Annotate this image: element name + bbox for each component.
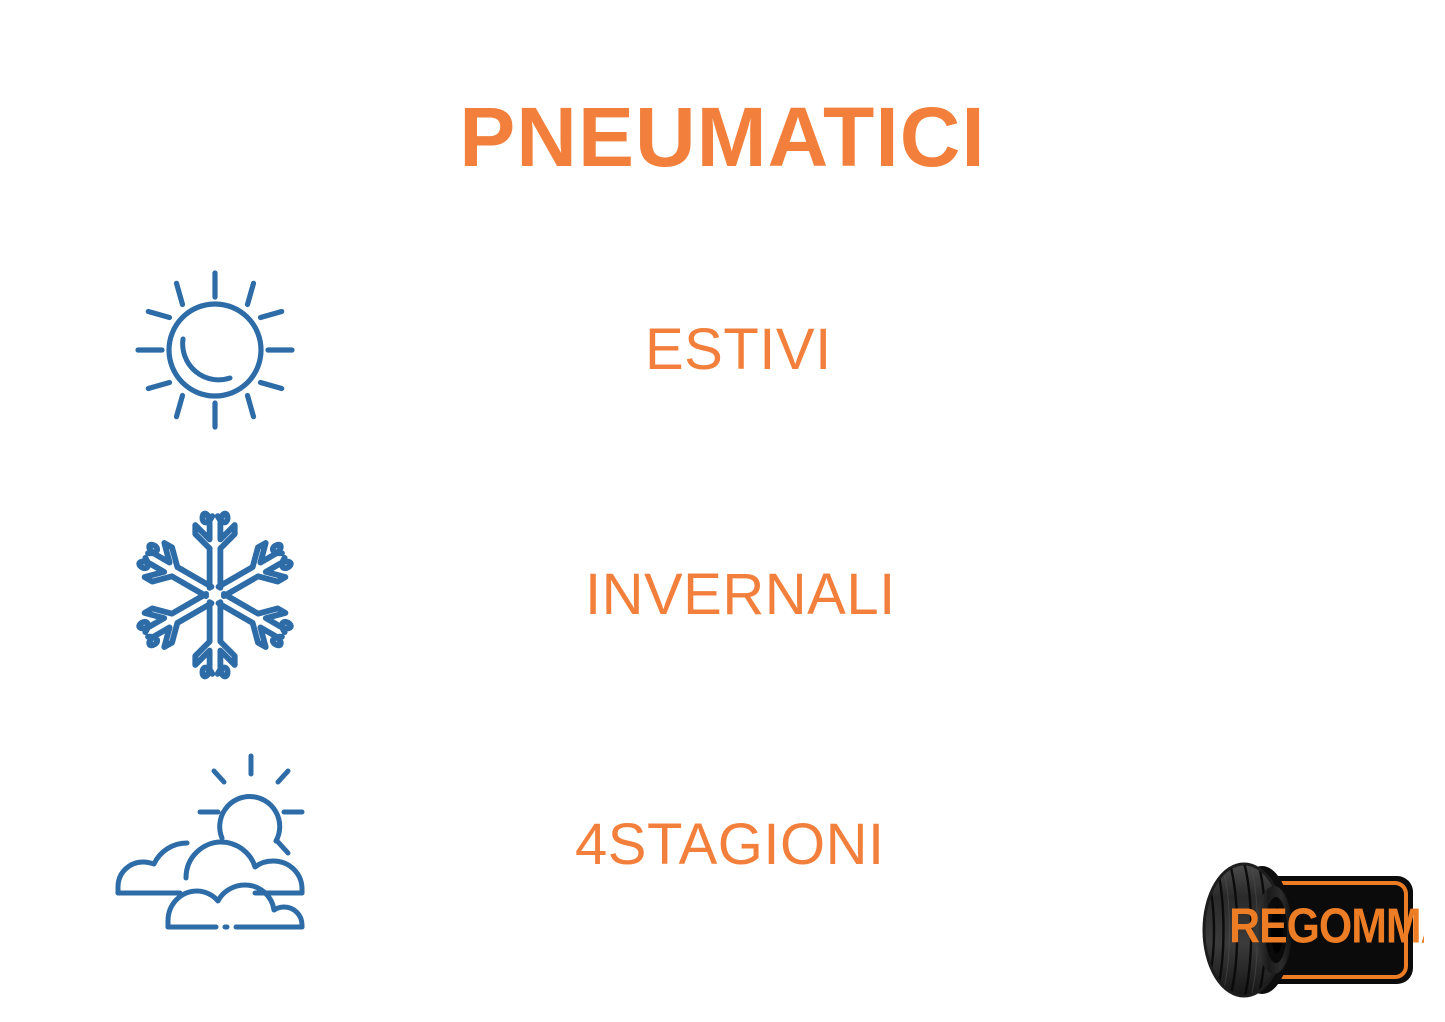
poster-canvas: PNEUMATICI <box>0 0 1445 1022</box>
regomma-logo-graphic: REGOMMA <box>1196 855 1424 1005</box>
category-row-estivi: ESTIVI <box>0 245 1445 455</box>
sun-behind-clouds-icon <box>108 750 323 940</box>
sun-icon <box>120 255 310 445</box>
category-label-estivi: ESTIVI <box>645 321 832 379</box>
category-label-4stagioni: 4STAGIONI <box>575 816 885 874</box>
category-label-invernali: INVERNALI <box>585 566 896 624</box>
estivi-label-cell: ESTIVI <box>430 245 1445 455</box>
logo-brand-text: REGOMMA <box>1229 897 1424 953</box>
regomma-logo: REGOMMA <box>1196 855 1424 1005</box>
sun-icon-cell <box>0 245 430 455</box>
snowflake-icon-cell <box>0 490 430 700</box>
category-row-invernali: INVERNALI <box>0 490 1445 700</box>
page-title: PNEUMATICI <box>0 95 1445 179</box>
invernali-label-cell: INVERNALI <box>430 490 1445 700</box>
snowflake-icon <box>125 500 305 690</box>
sun-behind-clouds-icon-cell <box>0 740 430 950</box>
